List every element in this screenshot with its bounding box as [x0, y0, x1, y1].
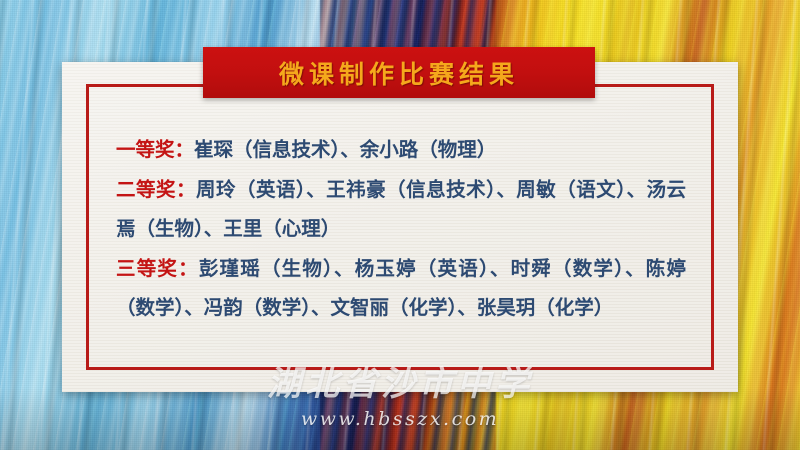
- award-label-first: 一等奖：: [116, 138, 194, 161]
- background-bottom-shade: [0, 387, 800, 450]
- title-banner: 微课制作比赛结果: [203, 47, 595, 98]
- award-label-third: 三等奖：: [116, 257, 199, 280]
- award-list: 一等奖：崔琛（信息技术）、余小路（物理） 二等奖：周玲（英语）、王祎豪（信息技术…: [116, 130, 686, 328]
- award-names-second: 周玲（英语）、王祎豪（信息技术）、周敏（语文）、汤云焉（生物）、王里（心理）: [116, 178, 686, 240]
- award-row-second: 二等奖：周玲（英语）、王祎豪（信息技术）、周敏（语文）、汤云焉（生物）、王里（心…: [116, 170, 686, 248]
- award-names-third: 彭瑾瑶（生物）、杨玉婷（英语）、时舜（数学）、陈婷（数学）、冯韵（数学）、文智丽…: [116, 257, 686, 319]
- award-label-second: 二等奖：: [116, 178, 196, 201]
- page-title: 微课制作比赛结果: [279, 55, 519, 91]
- slide-root: 微课制作比赛结果 一等奖：崔琛（信息技术）、余小路（物理） 二等奖：周玲（英语）…: [0, 0, 800, 450]
- award-names-first: 崔琛（信息技术）、余小路（物理）: [194, 138, 496, 161]
- award-row-third: 三等奖：彭瑾瑶（生物）、杨玉婷（英语）、时舜（数学）、陈婷（数学）、冯韵（数学）…: [116, 249, 686, 327]
- award-row-first: 一等奖：崔琛（信息技术）、余小路（物理）: [116, 130, 686, 169]
